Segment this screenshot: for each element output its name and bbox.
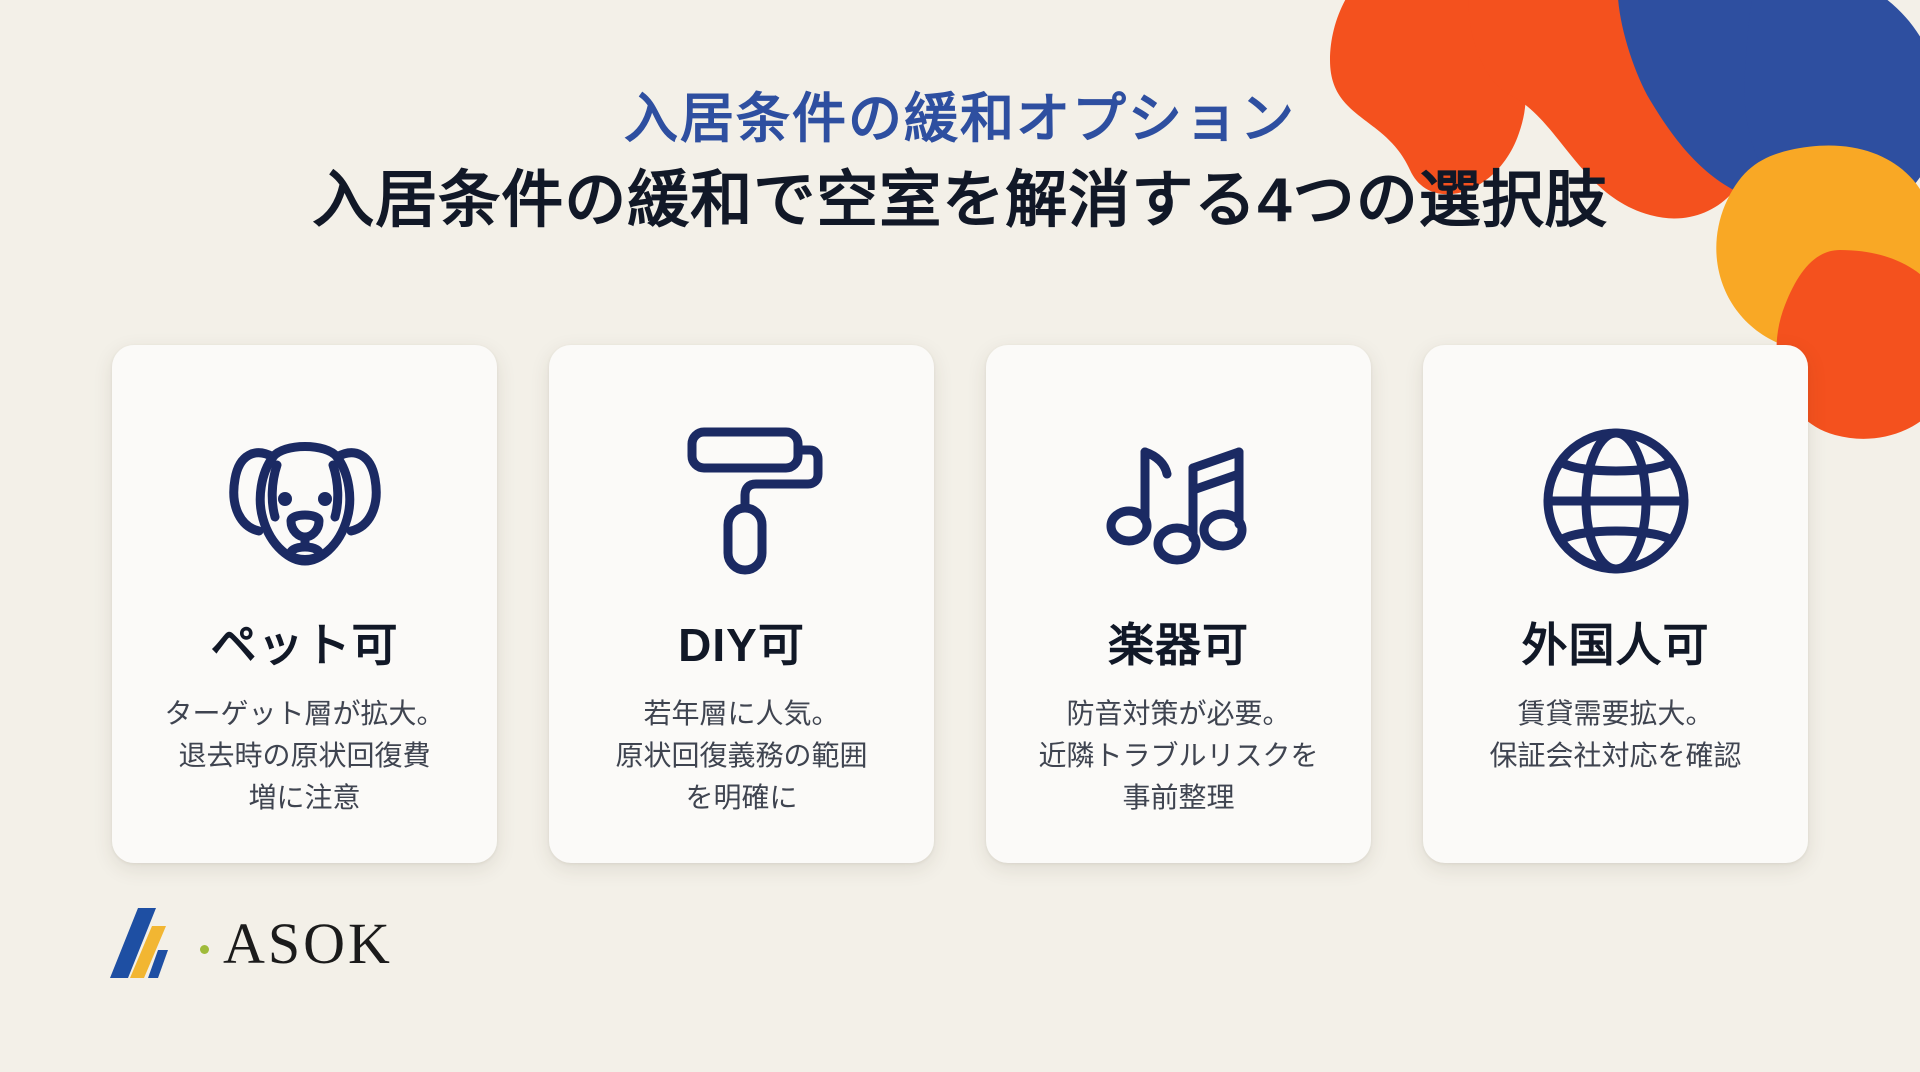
eyebrow-title: 入居条件の緩和オプション (0, 88, 1920, 150)
asok-a-mark (108, 906, 190, 980)
music-note-icon (1089, 401, 1269, 601)
card-description: 若年層に人気。 原状回復義務の範囲 を明確に (589, 693, 893, 819)
card-description: ターゲット層が拡大。 退去時の原状回復費 増に注意 (138, 693, 470, 819)
card-title: ペット可 (211, 609, 399, 675)
dog-face-icon (215, 401, 395, 601)
slide-header: 入居条件の緩和オプション 入居条件の緩和で空室を解消する4つの選択肢 (0, 0, 1920, 238)
option-card-foreigner[interactable]: 外国人可 賃貸需要拡大。 保証会社対応を確認 (1423, 345, 1808, 863)
logo-wordmark: ASOK (223, 910, 393, 977)
option-card-diy[interactable]: DIY可 若年層に人気。 原状回復義務の範囲 を明確に (549, 345, 934, 863)
page-title: 入居条件の緩和で空室を解消する4つの選択肢 (0, 164, 1920, 238)
option-card-pet[interactable]: ペット可 ターゲット層が拡大。 退去時の原状回復費 増に注意 (112, 345, 497, 863)
option-card-instrument[interactable]: 楽器可 防音対策が必要。 近隣トラブルリスクを 事前整理 (986, 345, 1371, 863)
card-title: DIY可 (678, 609, 805, 675)
card-description: 賃貸需要拡大。 保証会社対応を確認 (1463, 693, 1767, 777)
brand-logo: ASOK (108, 906, 393, 980)
paint-roller-icon (652, 401, 832, 601)
option-card-list: ペット可 ターゲット層が拡大。 退去時の原状回復費 増に注意 DIY可 若年層に… (0, 345, 1920, 863)
globe-icon (1531, 401, 1701, 601)
card-title: 楽器可 (1108, 609, 1249, 675)
logo-dot-icon (200, 945, 209, 954)
card-title: 外国人可 (1522, 609, 1710, 675)
card-description: 防音対策が必要。 近隣トラブルリスクを 事前整理 (1012, 693, 1344, 819)
